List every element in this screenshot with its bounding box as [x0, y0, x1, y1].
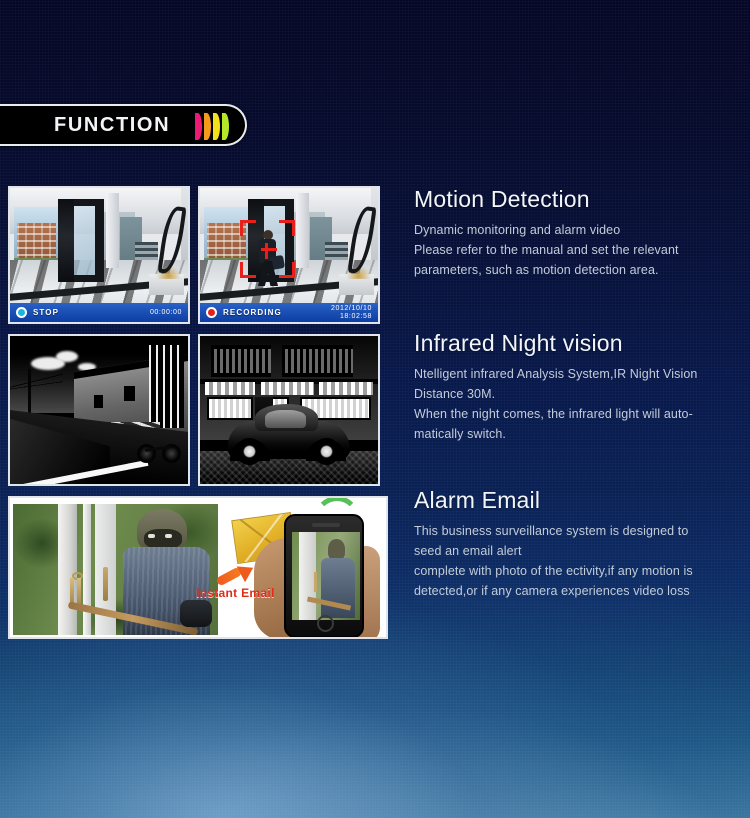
- instant-email-caption: Instant Email: [196, 586, 275, 600]
- feature-title: Infrared Night vision: [414, 330, 750, 357]
- feature-text-alarm-email: Alarm Email This business surveillance s…: [414, 487, 750, 601]
- burglar-figure: [120, 509, 214, 635]
- desc-line: complete with photo of the ectivity,if a…: [414, 561, 750, 581]
- status-label: RECORDING: [223, 308, 282, 317]
- desc-line: Ntelligent infrared Analysis System,IR N…: [414, 364, 750, 384]
- status-date: 2012/10/10: [331, 305, 372, 313]
- status-label: STOP: [33, 308, 59, 317]
- camera-preview-recording[interactable]: RECORDING 2012/10/10 18:02:58: [198, 186, 380, 324]
- status-datetime: 2012/10/10 18:02:58: [331, 305, 372, 321]
- smartphone-figure: [284, 514, 364, 638]
- desc-line: Distance 30M.: [414, 384, 750, 404]
- camera-preview-stop[interactable]: STOP 00:00:00: [8, 186, 190, 324]
- night-vision-car-photo[interactable]: [198, 334, 380, 486]
- phone-screen-alert-photo: [292, 532, 360, 620]
- hand-holding-phone: [254, 512, 384, 639]
- night-vision-street-photo[interactable]: [8, 334, 190, 486]
- desc-line: seed an email alert: [414, 541, 750, 561]
- car-night-scene-image: [200, 336, 378, 484]
- keys-in-lock-icon: [70, 572, 86, 606]
- desc-line: matically switch.: [414, 424, 750, 444]
- burglar-door-photo: [13, 504, 218, 635]
- banner-bar-3: [213, 113, 220, 140]
- lobby-scene-image: [10, 188, 188, 322]
- function-banner: FUNCTION: [0, 104, 247, 146]
- feature-text-infrared-night-vision: Infrared Night vision Ntelligent infrare…: [414, 330, 750, 444]
- status-time: 18:02:58: [331, 313, 372, 321]
- record-dot-icon: [206, 307, 217, 318]
- desc-line: Dynamic monitoring and alarm video: [414, 220, 750, 240]
- night-vision-thumbnails: [8, 334, 380, 486]
- feature-description: This business surveillance system is des…: [414, 521, 750, 601]
- function-feature-page: FUNCTION: [0, 0, 750, 818]
- banner-color-bars-icon: [195, 113, 229, 140]
- feature-description: Ntelligent infrared Analysis System,IR N…: [414, 364, 750, 444]
- banner-bar-4: [222, 113, 229, 140]
- street-night-scene-image: [10, 336, 188, 484]
- desc-line: Please refer to the manual and set the r…: [414, 240, 750, 260]
- motion-detection-bracket-icon: [240, 220, 295, 278]
- banner-bar-2: [204, 113, 211, 140]
- desc-line: detected,or if any camera experiences vi…: [414, 581, 750, 601]
- status-bar-stop: STOP 00:00:00: [10, 303, 188, 322]
- feature-title: Alarm Email: [414, 487, 750, 514]
- banner-bar-1: [195, 113, 202, 140]
- desc-line: This business surveillance system is des…: [414, 521, 750, 541]
- motion-detection-thumbnails: STOP 00:00:00: [8, 186, 380, 324]
- desc-line: parameters, such as motion detection are…: [414, 260, 750, 280]
- feature-description: Dynamic monitoring and alarm video Pleas…: [414, 220, 750, 280]
- alarm-email-illustration[interactable]: Instant Email: [8, 496, 388, 639]
- parked-car-figure: [228, 401, 349, 463]
- stop-dot-icon: [16, 307, 27, 318]
- desc-line: When the night comes, the infrared light…: [414, 404, 750, 424]
- function-banner-title: FUNCTION: [54, 114, 170, 137]
- status-bar-recording: RECORDING 2012/10/10 18:02:58: [200, 303, 378, 322]
- feature-text-motion-detection: Motion Detection Dynamic monitoring and …: [414, 186, 750, 280]
- status-timecode: 00:00:00: [150, 309, 182, 317]
- feature-title: Motion Detection: [414, 186, 750, 213]
